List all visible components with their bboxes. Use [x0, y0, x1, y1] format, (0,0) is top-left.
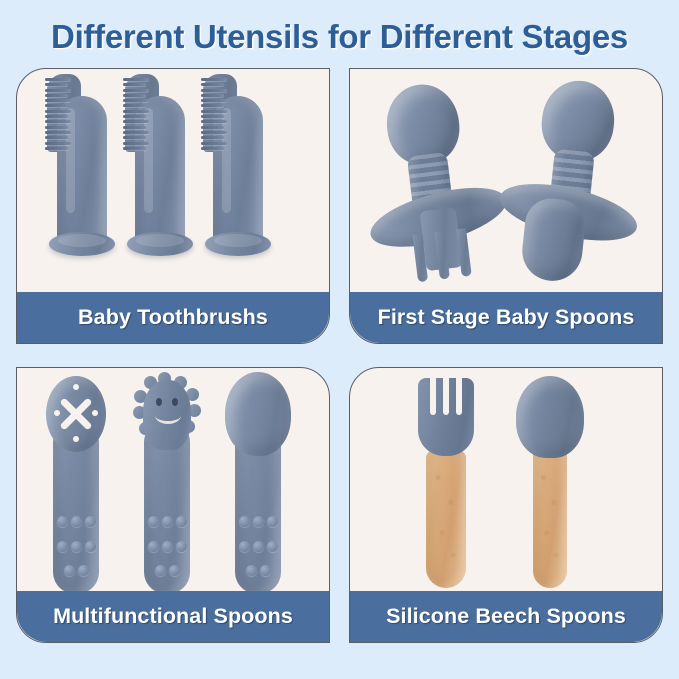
toothbrush-bristles-icon: [201, 78, 227, 150]
toothbrush-bristles-icon: [45, 78, 71, 150]
beech-handle-fork: [398, 372, 494, 588]
handle-grip-bumps: [55, 516, 97, 576]
spoon-wood-handle: [533, 450, 567, 588]
panel-label-baby-toothbrushes: Baby Toothbrushs: [17, 292, 329, 343]
fork-wood-handle: [426, 450, 466, 588]
toothbrush-base: [205, 232, 271, 256]
spiky-head-icon: [134, 372, 200, 458]
plain-feeding-spoon: [221, 370, 295, 594]
panel-silicone-beech-spoons: Silicone Beech Spoons: [349, 367, 663, 643]
panel-label-multifunctional-spoons: Multifunctional Spoons: [17, 591, 329, 642]
smiley-face-icon: [152, 398, 184, 424]
beech-handle-spoon: [502, 372, 598, 588]
product-image-multifunctional-spoons: [17, 368, 329, 591]
spoon-bowl: [225, 372, 291, 456]
toothbrush-bristles-icon: [123, 78, 149, 150]
panel-label-silicone-beech-spoons: Silicone Beech Spoons: [350, 591, 662, 642]
handle-grip-bumps: [146, 516, 188, 576]
panel-first-stage-baby-spoons: First Stage Baby Spoons: [349, 68, 663, 344]
x-cutout-spoon: [39, 370, 113, 594]
spoon-bowl: [519, 196, 587, 284]
panel-label-first-stage-baby-spoons: First Stage Baby Spoons: [350, 292, 662, 343]
panel-multifunctional-spoons: Multifunctional Spoons: [16, 367, 330, 643]
smiley-spike-spoon: [130, 370, 204, 594]
infographic-page: Different Utensils for Different Stages: [0, 0, 679, 679]
first-stage-spoon: [492, 72, 662, 287]
product-image-first-stage-spoons: [350, 69, 662, 292]
x-cutout-icon: [46, 376, 106, 452]
spoon-bowl: [516, 376, 584, 458]
fork-tines-icon: [418, 378, 474, 456]
fork-tines-icon: [412, 228, 471, 282]
panel-baby-toothbrushes: Baby Toothbrushs: [16, 68, 330, 344]
page-title: Different Utensils for Different Stages: [0, 18, 679, 56]
handle-grip-bumps: [237, 516, 279, 576]
product-image-beech-spoons: [350, 368, 662, 591]
product-image-baby-toothbrushes: [17, 69, 329, 292]
toothbrush-base: [127, 232, 193, 256]
toothbrush-base: [49, 232, 115, 256]
